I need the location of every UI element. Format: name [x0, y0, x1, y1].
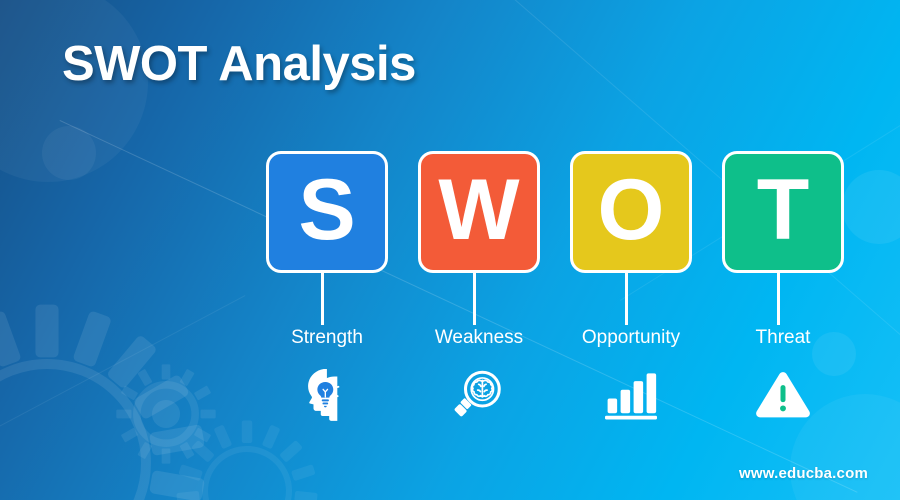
swot-item-strength[interactable]: S Strength — [266, 151, 388, 273]
connector-line — [473, 273, 476, 325]
gear-icon — [112, 360, 220, 468]
swot-item-weakness[interactable]: W Weakness — [418, 151, 540, 273]
connector-line — [625, 273, 628, 325]
warning-triangle-icon — [722, 363, 844, 427]
page-title: SWOT Analysis — [62, 36, 416, 92]
decorative-circle — [42, 126, 96, 180]
connector-line — [777, 273, 780, 325]
letter-box-s[interactable]: S — [266, 151, 388, 273]
letter-s: S — [298, 167, 355, 253]
gear-icon — [172, 416, 322, 500]
watermark-url: www.educba.com — [739, 465, 868, 482]
letter-o: O — [598, 167, 665, 253]
letter-box-o[interactable]: O — [570, 151, 692, 273]
swot-label-opportunity: Opportunity — [551, 327, 711, 349]
swot-infographic: SWOT Analysis S Strength — [0, 0, 900, 500]
head-lightbulb-icon — [266, 363, 388, 427]
swot-label-strength: Strength — [266, 327, 388, 349]
decorative-diagonal-line — [0, 295, 245, 437]
swot-item-threat[interactable]: T Threat — [722, 151, 844, 273]
swot-card-row: S Strength — [266, 151, 844, 273]
magnifier-brain-icon — [418, 363, 540, 427]
swot-item-opportunity[interactable]: O Opportunity — [570, 151, 692, 273]
gear-icon — [0, 298, 212, 500]
swot-label-weakness: Weakness — [418, 327, 540, 349]
letter-box-t[interactable]: T — [722, 151, 844, 273]
letter-w: W — [438, 167, 519, 253]
growth-bar-chart-icon — [570, 363, 692, 427]
letter-t: T — [757, 167, 810, 253]
decorative-circle — [842, 170, 900, 244]
connector-line — [321, 273, 324, 325]
swot-label-threat: Threat — [722, 327, 844, 349]
letter-box-w[interactable]: W — [418, 151, 540, 273]
